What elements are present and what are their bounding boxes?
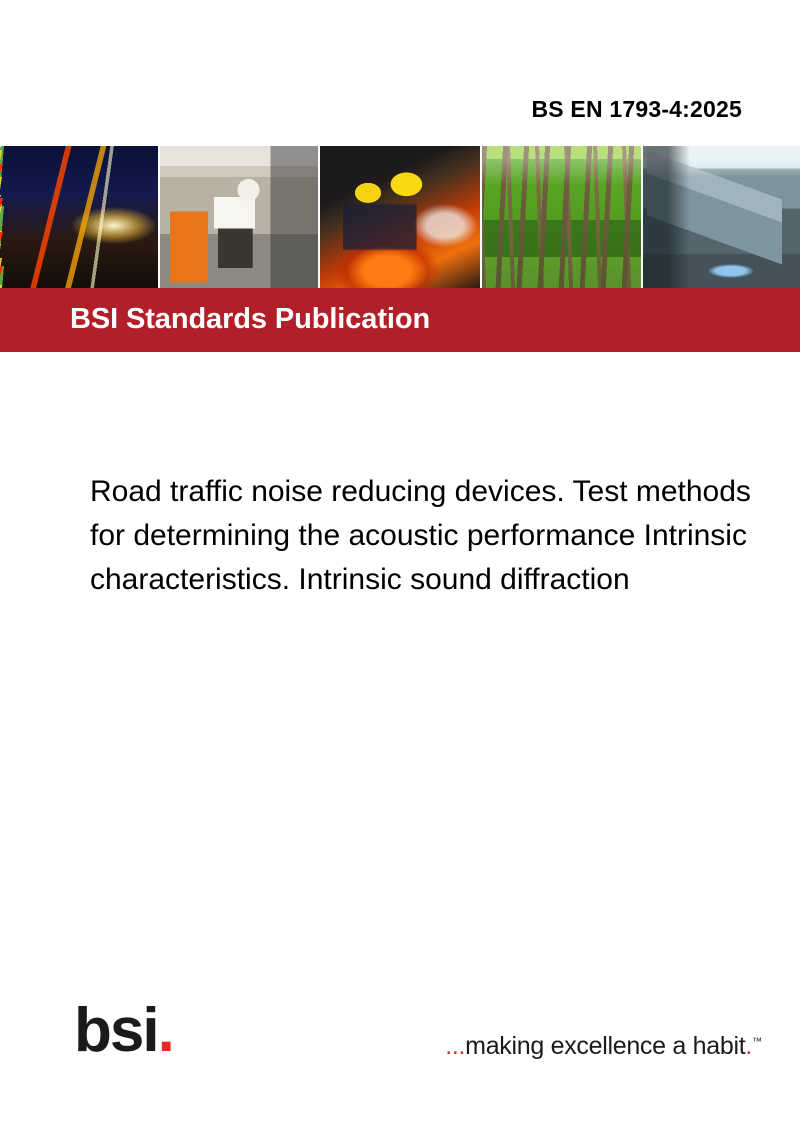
banner-title: BSI Standards Publication <box>70 303 430 336</box>
banner-red-bar: BSI Standards Publication <box>0 288 800 352</box>
page-title-line-1: Road traffic noise reducing devices. Tes… <box>90 470 800 514</box>
page-title-line-2: for determining the acoustic performance… <box>90 514 800 558</box>
bsi-tagline: ...making excellence a habit.™ <box>445 1032 762 1061</box>
banner-panel-night-traffic-light-trails <box>0 146 158 288</box>
trademark-icon: ™ <box>752 1037 762 1048</box>
tagline-text: making excellence a habit <box>465 1032 745 1060</box>
bsi-logo-dot: . <box>158 996 173 1065</box>
tagline-ellipsis: ... <box>445 1032 465 1060</box>
banner-panel-warehouse-worker <box>160 146 318 288</box>
banner-panel-firefighters <box>320 146 479 288</box>
banner-panel-forest <box>482 146 641 288</box>
document-page: BS EN 1793-4:2025 BSI Standards Publicat… <box>0 0 800 1132</box>
banner-image-strip <box>0 146 800 288</box>
bsi-logo-text: bsi <box>74 996 158 1065</box>
cover-banner: BSI Standards Publication <box>0 146 800 352</box>
banner-panel-car-production-line <box>643 146 800 288</box>
page-title: Road traffic noise reducing devices. Tes… <box>90 470 800 602</box>
page-title-line-3: characteristics. Intrinsic sound diffrac… <box>90 558 800 602</box>
standard-number: BS EN 1793-4:2025 <box>531 96 742 123</box>
cover-footer: bsi. ...making excellence a habit.™ <box>0 1000 800 1100</box>
bsi-logo: bsi. <box>74 1000 173 1062</box>
tagline-period: . <box>745 1032 752 1060</box>
